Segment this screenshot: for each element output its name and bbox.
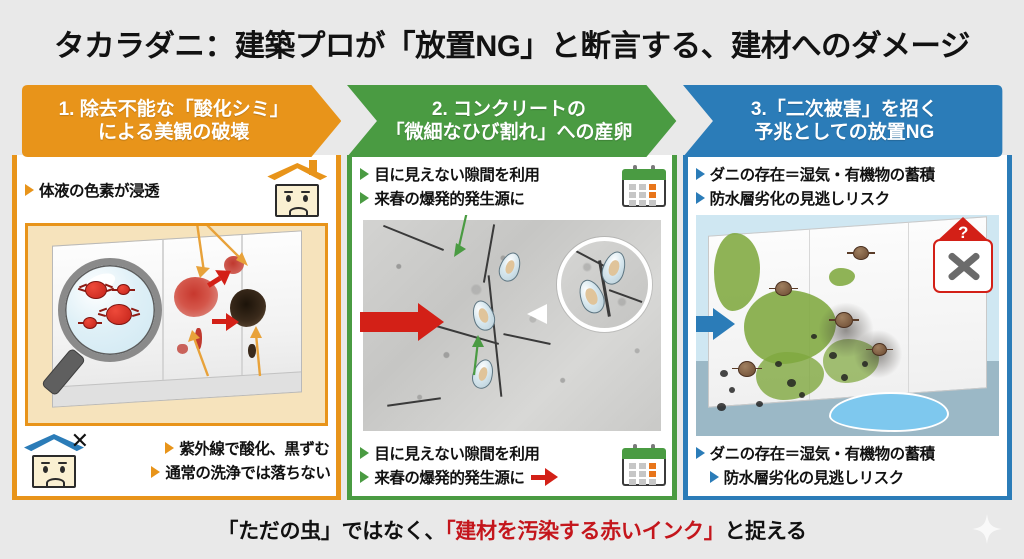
sad-house-blue-icon: ✕	[25, 432, 87, 488]
columns-container: 1. 除去不能な「酸化シミ」 による美観の破壊 体液の色素が浸透	[0, 85, 1024, 500]
bullet-triangle-icon	[710, 471, 719, 483]
mite-icon	[853, 246, 869, 260]
stain-progress-arrow-2	[212, 313, 239, 331]
red-drip	[177, 344, 188, 354]
column-1-bottom-bullets: ✕ 紫外線で酸化、黒ずむ 通常の洗浄では落ちない	[17, 428, 336, 496]
column-3-header: 3.「二次被害」を招く 予兆としての放置NG	[683, 85, 1012, 157]
column-1-header: 1. 除去不能な「酸化シミ」 による美観の破壊	[12, 85, 341, 157]
title-bar: タカラダニ：建築プロが「放置NG」と断言する、建材へのダメージ	[0, 0, 1024, 85]
column-2-header-text: 2. コンクリートの 「微細なひび割れ」への産卵	[385, 98, 632, 144]
bullet-label: ダニの存在＝湿気・有機物の蓄積	[710, 163, 935, 185]
footer-prefix: 「ただの虫」ではなく、	[217, 520, 445, 543]
bullet-label: 防水層劣化の見逃しリスク	[710, 187, 890, 209]
bullet-triangle-icon	[165, 442, 174, 454]
bullet-triangle-icon	[151, 466, 160, 478]
magnified-inset	[557, 237, 652, 332]
bullet-item: 防水層劣化の見逃しリスク	[696, 466, 1001, 488]
bullet-label: 来春の爆発的発生源に	[374, 187, 524, 209]
column-3-illustration: ?	[696, 215, 999, 436]
bullet-item: 紫外線で酸化、黒ずむ	[151, 437, 330, 459]
footer-suffix: と捉える	[724, 520, 806, 543]
bullet-label: 来春の爆発的発生源に	[374, 466, 524, 488]
column-2-header: 2. コンクリートの 「微細なひび割れ」への産卵	[347, 85, 676, 157]
column-2: 2. コンクリートの 「微細なひび割れ」への産卵 目に見えない隙間を利用 来春の…	[347, 85, 676, 500]
column-2-bottom-bullets: 目に見えない隙間を利用 来春の爆発的発生源に	[352, 438, 671, 496]
mite-egg	[470, 357, 497, 391]
mite-icon	[85, 281, 107, 299]
red-drip	[195, 328, 202, 350]
tools-wrench-icon	[933, 239, 993, 293]
bullet-label: ダニの存在＝湿気・有機物の蓄積	[710, 442, 935, 464]
bullet-label: 紫外線で酸化、黒ずむ	[179, 437, 329, 459]
calendar-icon	[622, 165, 666, 207]
bullet-triangle-icon	[360, 168, 369, 180]
bullet-triangle-icon	[360, 471, 369, 483]
bullet-item: 目に見えない隙間を利用	[360, 163, 539, 185]
magnifier-icon	[58, 258, 162, 362]
footer-emphasis: 「建材を汚染する赤いインク」	[445, 520, 724, 543]
bullet-label: 防水層劣化の見逃しリスク	[724, 466, 904, 488]
bullet-triangle-icon	[25, 184, 34, 196]
column-2-top-bullets: 目に見えない隙間を利用 来春の爆発的発生源に	[352, 155, 671, 213]
mite-icon	[872, 343, 887, 356]
bullet-label: 目に見えない隙間を利用	[374, 442, 539, 464]
inline-red-arrow-icon	[531, 468, 558, 486]
bullet-triangle-icon	[696, 168, 705, 180]
bullet-label: 目に見えない隙間を利用	[374, 163, 539, 185]
column-1-illustration	[25, 223, 328, 426]
bullet-triangle-icon	[696, 447, 705, 459]
column-1: 1. 除去不能な「酸化シミ」 による美観の破壊 体液の色素が浸透	[12, 85, 341, 500]
column-2-illustration	[360, 215, 663, 436]
mite-icon	[83, 317, 97, 329]
column-3-body: ダニの存在＝湿気・有機物の蓄積 防水層劣化の見逃しリスク	[683, 155, 1012, 500]
column-3-bottom-bullets: ダニの存在＝湿気・有機物の蓄積 防水層劣化の見逃しリスク	[688, 438, 1007, 496]
bullet-triangle-icon	[696, 192, 705, 204]
warning-tools-group: ?	[931, 217, 995, 295]
mite-icon	[738, 361, 756, 377]
bullet-item: 来春の爆発的発生源に	[360, 466, 558, 488]
bullet-triangle-icon	[360, 192, 369, 204]
column-1-header-text: 1. 除去不能な「酸化シミ」 による美観の破壊	[59, 98, 289, 144]
incoming-blue-arrow	[696, 308, 736, 340]
column-3: 3.「二次被害」を招く 予兆としての放置NG ダニの存在＝湿気・有機物の蓄積 防…	[683, 85, 1012, 500]
bullet-item: 来春の爆発的発生源に	[360, 187, 539, 209]
footer-message: 「ただの虫」ではなく、「建材を汚染する赤いインク」と捉える	[217, 515, 806, 545]
page-title: タカラダニ：建築プロが「放置NG」と断言する、建材へのダメージ	[54, 21, 970, 65]
mite-egg	[496, 249, 525, 284]
calendar-icon	[622, 444, 666, 486]
column-1-body: 体液の色素が浸透	[12, 155, 341, 500]
mite-icon	[775, 281, 792, 296]
bullet-item: 防水層劣化の見逃しリスク	[696, 187, 1001, 209]
bullet-label: 体液の色素が浸透	[39, 179, 159, 201]
x-mark-icon: ✕	[71, 430, 89, 452]
column-3-header-text: 3.「二次被害」を招く 予兆としての放置NG	[751, 98, 938, 144]
bullet-item: ダニの存在＝湿気・有機物の蓄積	[696, 442, 1001, 464]
footer-bar: 「ただの虫」ではなく、「建材を汚染する赤いインク」と捉える	[0, 500, 1024, 559]
column-1-top-bullets: 体液の色素が浸透	[17, 155, 336, 221]
column-3-top-bullets: ダニの存在＝湿気・有機物の蓄積 防水層劣化の見逃しリスク	[688, 155, 1007, 213]
bullet-triangle-icon	[360, 447, 369, 459]
column-2-body: 目に見えない隙間を利用 来春の爆発的発生源に	[347, 155, 676, 500]
incoming-red-arrow	[360, 303, 444, 341]
mite-icon	[106, 304, 132, 325]
sad-house-orange-icon	[268, 163, 326, 217]
bullet-item: ダニの存在＝湿気・有機物の蓄積	[696, 163, 1001, 185]
bullet-item: 通常の洗浄では落ちない	[151, 461, 330, 483]
sparkle-decoration-icon	[972, 514, 1002, 544]
bullet-item: 体液の色素が浸透	[25, 179, 159, 201]
mite-icon	[117, 284, 130, 295]
bullet-label: 通常の洗浄では落ちない	[165, 461, 330, 483]
bullet-item: 目に見えない隙間を利用	[360, 442, 558, 464]
mite-icon	[835, 312, 853, 328]
